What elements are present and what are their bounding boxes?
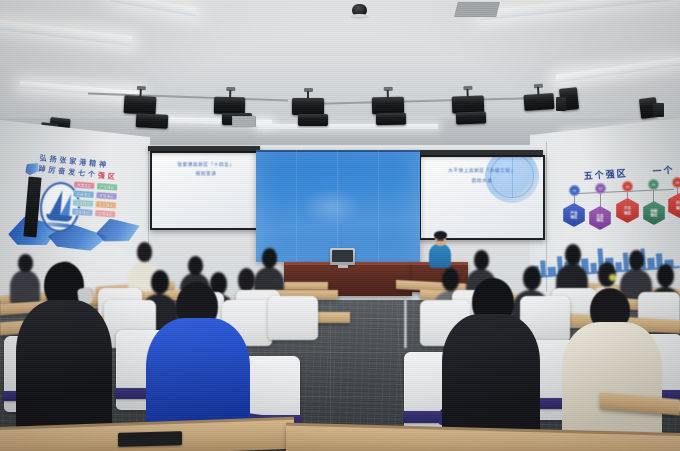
infographic-node: 05 [672, 177, 680, 188]
wall-badge-label: 科创强区 [73, 190, 94, 198]
left-projection-screen: 张家港高新区「十四五」 规划宣讲 [150, 151, 262, 230]
air-vent-icon [454, 2, 500, 17]
hex-line2: 强区 [570, 215, 577, 219]
wave-shape [42, 222, 74, 229]
wall-badge-label: 开放强区 [96, 192, 117, 200]
hex-line2: 强区 [596, 218, 603, 222]
audience-chair [268, 296, 318, 340]
stage-spotlight [376, 113, 406, 126]
infographic-stem [653, 190, 654, 203]
stage-spotlight [298, 114, 328, 126]
wall-badge-label: 党建强区 [74, 181, 95, 189]
infographic-node: 02 [595, 183, 606, 194]
dome-camera-icon [352, 4, 367, 16]
infographic-node-label: 01 [569, 185, 580, 196]
sail-shape [60, 193, 71, 216]
presenter-glasses [437, 239, 444, 241]
stage-spotlight [292, 98, 324, 115]
left-wall-headline-quote: 强 区 [97, 172, 115, 181]
hair-tie [609, 274, 616, 281]
infographic-node-label: 02 [595, 183, 606, 194]
wall-badge: 民生强区 [72, 208, 93, 216]
wall-badge: 开放强区 [96, 192, 117, 200]
podium-monitor [330, 248, 355, 265]
presenter-hair [434, 231, 447, 239]
wall-speaker [556, 97, 566, 111]
infographic-node-label: 03 [622, 181, 633, 192]
left-screen-line1: 张家港高新区「十四五」 [152, 161, 260, 168]
desk-leg [404, 300, 407, 348]
wall-badge: 生态强区 [95, 201, 116, 209]
hex-line2: 强区 [676, 206, 680, 210]
presenter [428, 230, 452, 266]
wall-badge-label: 治理强区 [95, 210, 116, 218]
stage-spotlight [456, 111, 486, 124]
wall-badge: 治理强区 [95, 210, 116, 218]
wall-badge: 产业强区 [96, 183, 117, 191]
right-wall-headline-left: 五个强区 [583, 168, 628, 181]
left-screen-line2: 规划宣讲 [152, 170, 260, 177]
wall-badge: 党建强区 [74, 181, 95, 189]
ceiling-light-strip [258, 124, 438, 129]
hex-line2: 强区 [650, 213, 657, 217]
stage-spotlight [214, 97, 245, 115]
wall-badge: 科创强区 [73, 190, 94, 198]
wall-badge-label: 产业强区 [96, 183, 117, 191]
right-screen-line2: 启动大会 [421, 177, 543, 184]
right-projection-screen-roller [417, 150, 543, 155]
infographic-node: 04 [648, 179, 659, 190]
right-projection-screen: 大干快上高新区「升级工程」 启动大会 [419, 155, 545, 240]
wall-badge-label: 民生强区 [72, 208, 93, 216]
left-wall-badge-grid: 党建强区 产业强区 科创强区 开放强区 文化强区 生态强区 民生强区 治理强区 [72, 181, 118, 218]
conference-room-photo: 弘 扬 张 家 港 精 神 踔 厉 奋 发 七 个 强 区 党建强区 产业强区 … [0, 0, 680, 451]
laptop-on-desk [118, 431, 182, 447]
infographic-node: 03 [622, 181, 633, 192]
air-vent-icon [232, 116, 256, 127]
infographic-node: 01 [569, 185, 580, 196]
wall-speaker [653, 103, 664, 117]
infographic-node-label: 04 [648, 179, 659, 190]
infographic-stem [600, 194, 601, 208]
wall-badge-label: 文化强区 [72, 199, 93, 207]
right-wall-headline-right: 一个 [652, 165, 675, 177]
center-led-wall [256, 150, 420, 262]
stage-spotlight [136, 113, 169, 129]
right-screen-line1: 大干快上高新区「升级工程」 [421, 167, 543, 174]
stage-spotlight [124, 95, 157, 115]
stage-spotlight [372, 97, 404, 115]
hull-shape [46, 214, 72, 222]
infographic-node-label: 05 [672, 177, 680, 188]
stage-spotlight [523, 93, 554, 111]
wall-badge: 文化强区 [72, 199, 93, 207]
hex-line2: 强区 [624, 211, 631, 215]
attendee-front-right-cream-coat [562, 322, 662, 442]
left-projection-screen-roller [148, 146, 260, 151]
wall-badge-label: 生态强区 [95, 201, 116, 209]
presenter-torso [429, 244, 451, 268]
attendee-front-left-dark-coat [16, 300, 112, 430]
attendee-front-right-dark-coat [442, 314, 540, 440]
